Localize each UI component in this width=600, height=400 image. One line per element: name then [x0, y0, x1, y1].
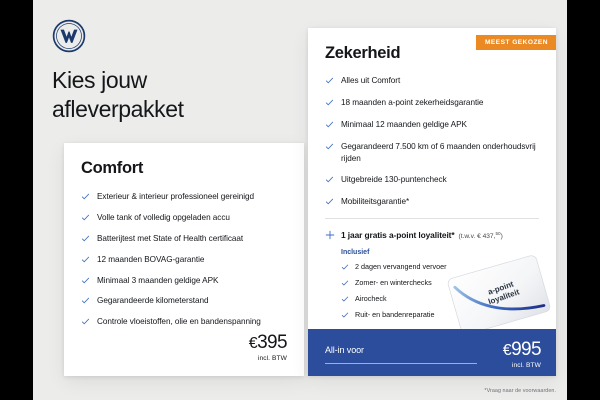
section-divider: [325, 218, 539, 219]
check-icon: [341, 279, 349, 287]
check-icon: [341, 311, 349, 319]
comfort-price: €395: [249, 333, 287, 352]
price-bar-rule: [325, 363, 477, 364]
loyalty-addon-value: (t.w.v. € 437,50): [459, 233, 503, 240]
list-item: Gegarandeerd 7.500 km of 6 maanden onder…: [325, 141, 539, 165]
allin-label: All-in voor: [325, 345, 364, 355]
comfort-card-body: Comfort Exterieur & interieur profession…: [64, 143, 304, 328]
list-item: Mobiliteitsgarantie*: [325, 196, 539, 208]
package-card-comfort[interactable]: Comfort Exterieur & interieur profession…: [64, 143, 304, 376]
check-icon: [325, 142, 334, 151]
check-icon: [341, 295, 349, 303]
list-item: Minimaal 3 maanden geldige APK: [81, 275, 287, 287]
list-item-label: Batterijtest met State of Health certifi…: [97, 234, 243, 243]
price-amount: 995: [511, 339, 541, 360]
vw-logo-icon: [52, 19, 86, 53]
list-item-label: Zomer- en winterchecks: [355, 278, 432, 287]
status-badge: MEEST GEKOZEN: [476, 35, 556, 50]
check-icon: [325, 98, 334, 107]
check-icon: [341, 263, 349, 271]
loyalty-value-suffix: ): [501, 233, 503, 240]
list-item: Minimaal 12 maanden geldige APK: [325, 119, 539, 131]
check-icon: [81, 192, 90, 201]
list-item: Batterijtest met State of Health certifi…: [81, 233, 287, 245]
currency-symbol: €: [503, 342, 511, 359]
check-icon: [325, 197, 334, 206]
list-item: Exterieur & interieur professioneel gere…: [81, 191, 287, 203]
package-card-zekerheid[interactable]: MEEST GEKOZEN Zekerheid Alles uit Comfor…: [308, 28, 556, 376]
promo-canvas: Kies jouw afleverpakket Comfort Exterieu…: [33, 0, 567, 400]
check-icon: [325, 175, 334, 184]
check-icon: [81, 234, 90, 243]
comfort-feature-list: Exterieur & interieur professioneel gere…: [81, 191, 287, 328]
list-item: 2 dagen vervangend vervoer: [341, 262, 539, 272]
list-item-label: Uitgebreide 130-puntencheck: [341, 175, 447, 184]
plus-icon: [325, 230, 335, 240]
footnote: *Vraag naar de voorwaarden.: [484, 388, 556, 394]
list-item-label: Controle vloeistoffen, olie en bandenspa…: [97, 317, 261, 326]
screenshot-stage: Kies jouw afleverpakket Comfort Exterieu…: [0, 0, 600, 400]
list-item: Controle vloeistoffen, olie en bandenspa…: [81, 316, 287, 328]
list-item: Volle tank of volledig opgeladen accu: [81, 212, 287, 224]
comfort-price-note: incl. BTW: [249, 355, 287, 362]
zekerheid-card-body: Zekerheid Alles uit Comfort 18 maanden a…: [308, 28, 556, 321]
comfort-price-block: €395 incl. BTW: [249, 333, 287, 362]
list-item: Uitgebreide 130-puntencheck: [325, 174, 539, 186]
list-item-label: Mobiliteitsgarantie*: [341, 197, 409, 206]
list-item-label: Alles uit Comfort: [341, 76, 400, 85]
list-item-label: Minimaal 12 maanden geldige APK: [341, 120, 467, 129]
list-item: 12 maanden BOVAG-garantie: [81, 254, 287, 266]
list-item: 18 maanden a-point zekerheidsgarantie: [325, 97, 539, 109]
check-icon: [81, 317, 90, 326]
zekerheid-feature-list: Alles uit Comfort 18 maanden a-point zek…: [325, 75, 539, 208]
comfort-title: Comfort: [81, 159, 287, 178]
headline-line-1: Kies jouw: [52, 66, 292, 95]
page-title: Kies jouw afleverpakket: [52, 66, 292, 125]
list-item: Ruit- en bandenreparatie: [341, 310, 539, 320]
included-heading: Inclusief: [341, 249, 539, 256]
list-item-label: Gegarandeerde kilometerstand: [97, 296, 208, 305]
check-icon: [325, 76, 334, 85]
check-icon: [81, 255, 90, 264]
list-item-label: Gegarandeerd 7.500 km of 6 maanden onder…: [341, 142, 536, 163]
check-icon: [81, 276, 90, 285]
list-item-label: Exterieur & interieur professioneel gere…: [97, 192, 254, 201]
check-icon: [325, 120, 334, 129]
list-item-label: Airocheck: [355, 294, 387, 303]
price-amount: 395: [257, 332, 287, 353]
zekerheid-price-block: €995 incl. BTW: [503, 340, 541, 369]
list-item-label: Volle tank of volledig opgeladen accu: [97, 213, 230, 222]
zekerheid-price: €995: [503, 340, 541, 359]
headline-line-2: afleverpakket: [52, 95, 292, 124]
list-item: Airocheck: [341, 294, 539, 304]
currency-symbol: €: [249, 335, 257, 352]
included-list: 2 dagen vervangend vervoer Zomer- en win…: [341, 262, 539, 320]
list-item-label: 2 dagen vervangend vervoer: [355, 262, 447, 271]
check-icon: [81, 296, 90, 305]
list-item-label: Minimaal 3 maanden geldige APK: [97, 276, 218, 285]
list-item-label: 12 maanden BOVAG-garantie: [97, 255, 204, 264]
loyalty-value-prefix: (t.w.v. € 437,: [459, 233, 496, 240]
loyalty-addon-row: 1 jaar gratis a-point loyaliteit*(t.w.v.…: [325, 230, 539, 240]
zekerheid-price-note: incl. BTW: [503, 362, 541, 369]
list-item: Alles uit Comfort: [325, 75, 539, 87]
list-item: Zomer- en winterchecks: [341, 278, 539, 288]
zekerheid-price-bar: All-in voor €995 incl. BTW: [308, 329, 556, 376]
list-item-label: 18 maanden a-point zekerheidsgarantie: [341, 98, 483, 107]
list-item-label: Ruit- en bandenreparatie: [355, 310, 435, 319]
check-icon: [81, 213, 90, 222]
list-item: Gegarandeerde kilometerstand: [81, 295, 287, 307]
loyalty-addon-label: 1 jaar gratis a-point loyaliteit*: [341, 230, 455, 240]
